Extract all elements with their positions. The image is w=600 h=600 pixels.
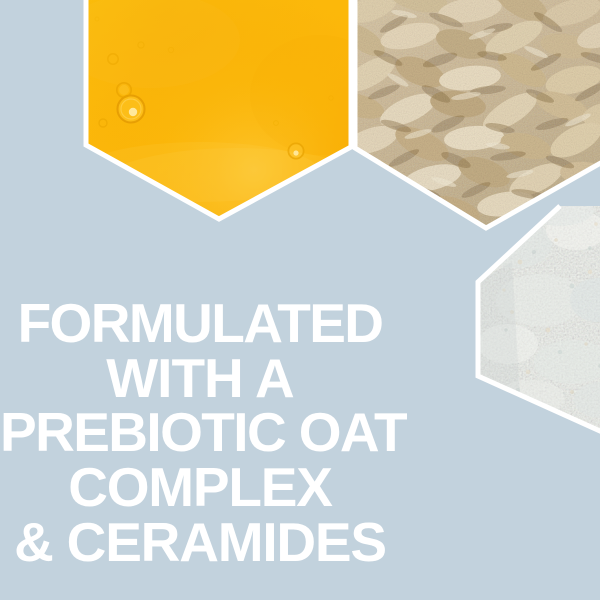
headline-line-3: PREBIOTIC OAT (0, 405, 400, 460)
headline-block: FORMULATED WITH A PREBIOTIC OAT COMPLEX … (0, 296, 400, 570)
product-claim-banner: FORMULATED WITH A PREBIOTIC OAT COMPLEX … (0, 0, 600, 600)
oat-flakes-hexagon (333, 0, 600, 240)
headline-line-1: FORMULATED (0, 296, 400, 351)
headline-line-5: & CERAMIDES (0, 515, 400, 570)
headline-line-4: COMPLEX (0, 460, 400, 515)
headline-line-2: WITH A (0, 351, 400, 406)
oil-hexagon (60, 0, 390, 244)
